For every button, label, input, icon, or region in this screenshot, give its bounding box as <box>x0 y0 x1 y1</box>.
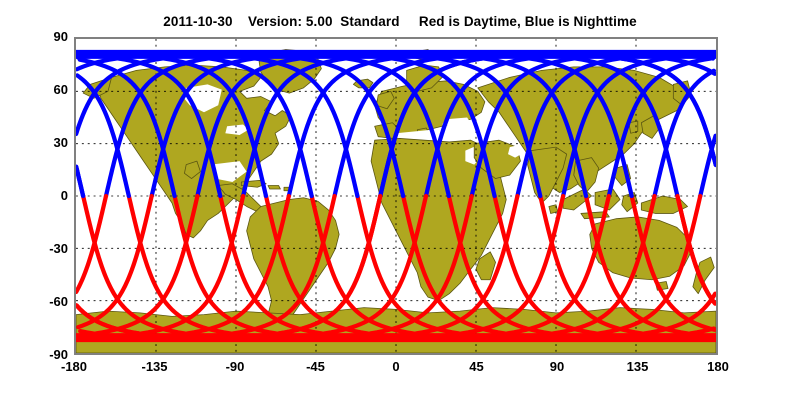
y-tick-label-0: 0 <box>34 189 68 202</box>
figure-title: 2011-10-30 Version: 5.00 Standard Red is… <box>0 14 800 29</box>
y-tick-label--60: -60 <box>34 295 68 308</box>
map-canvas <box>76 39 716 353</box>
x-tick-label-0: 0 <box>392 360 399 373</box>
x-tick-label--90: -90 <box>226 360 245 373</box>
y-tick-label--90: -90 <box>34 348 68 361</box>
land-hispaniola <box>268 186 280 189</box>
ground-track-figure: 2011-10-30 Version: 5.00 Standard Red is… <box>0 0 800 400</box>
map-plot-area <box>74 37 718 355</box>
x-tick-label--135: -135 <box>141 360 167 373</box>
map-svg <box>76 39 716 353</box>
x-tick-label--180: -180 <box>61 360 87 373</box>
y-tick-label-90: 90 <box>34 30 68 43</box>
y-tick-label--30: -30 <box>34 242 68 255</box>
x-tick-label-135: 135 <box>627 360 649 373</box>
y-tick-label-60: 60 <box>34 83 68 96</box>
x-tick-label-180: 180 <box>707 360 729 373</box>
y-tick-label-30: 30 <box>34 136 68 149</box>
x-tick-label--45: -45 <box>306 360 325 373</box>
x-tick-label-45: 45 <box>469 360 483 373</box>
x-tick-label-90: 90 <box>550 360 564 373</box>
